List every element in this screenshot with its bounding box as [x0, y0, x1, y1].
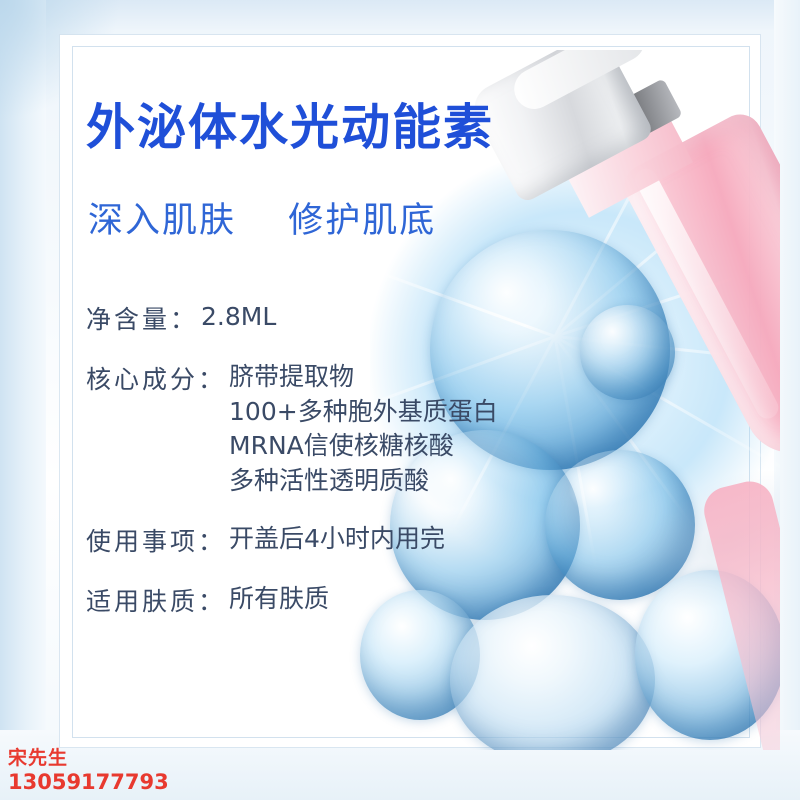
contact-overlay: 宋先生 13059177793: [8, 748, 169, 794]
spec-value: 2.8ML: [197, 300, 276, 335]
background-left-band: [0, 0, 46, 800]
water-bubble: [580, 305, 675, 400]
product-headline: 外泌体水光动能素: [86, 88, 494, 159]
poster-image: 外泌体水光动能素 深入肌肤 修护肌底 净含量 ： 2.8ML 核心成分 ： 脐带…: [0, 0, 800, 800]
subheadline-part-2: 修护肌底: [288, 201, 436, 241]
spec-colon: ：: [170, 300, 195, 336]
spec-list: 净含量 ： 2.8ML 核心成分 ： 脐带提取物 100+多种胞外基质蛋白 MR…: [86, 300, 506, 642]
spec-label: 使用事项: [86, 522, 198, 558]
subheadline-part-1: 深入肌肤: [88, 201, 236, 241]
spec-colon: ：: [198, 582, 223, 618]
spec-row-usage: 使用事项 ： 开盖后4小时内用完: [86, 522, 506, 558]
spec-colon: ：: [198, 360, 223, 396]
spec-label: 适用肤质: [86, 582, 198, 618]
spec-value: 所有肤质: [225, 582, 329, 617]
contact-name: 宋先生: [8, 748, 169, 770]
product-subheadline: 深入肌肤 修护肌底: [88, 192, 436, 243]
spec-row-volume: 净含量 ： 2.8ML: [86, 300, 506, 336]
spec-colon: ：: [198, 522, 223, 558]
contact-phone: 13059177793: [8, 770, 169, 794]
spec-label: 净含量: [86, 300, 170, 336]
background-top-band: [0, 0, 800, 30]
spec-value: 开盖后4小时内用完: [225, 522, 445, 557]
spec-label: 核心成分: [86, 360, 198, 396]
spec-row-ingredients: 核心成分 ： 脐带提取物 100+多种胞外基质蛋白 MRNA信使核糖核酸 多种活…: [86, 360, 506, 498]
spec-value: 脐带提取物 100+多种胞外基质蛋白 MRNA信使核糖核酸 多种活性透明质酸: [225, 360, 498, 498]
spec-row-skin-type: 适用肤质 ： 所有肤质: [86, 582, 506, 618]
